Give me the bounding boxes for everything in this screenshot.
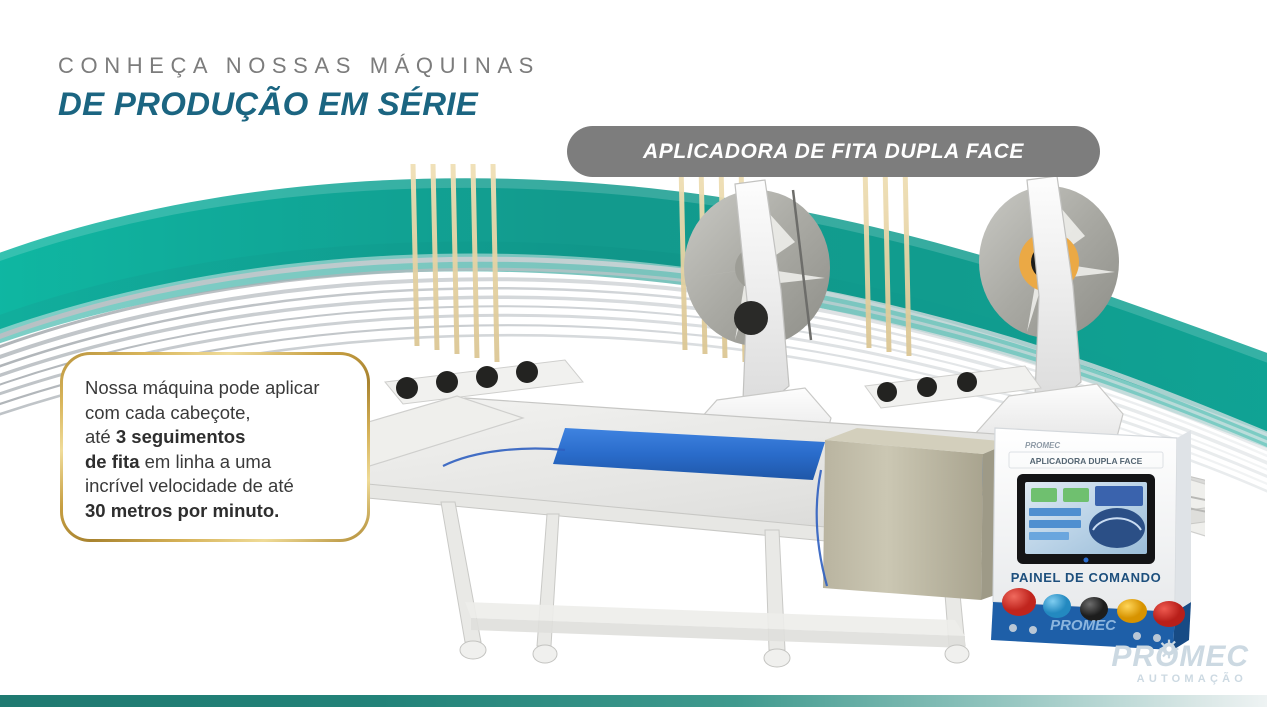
callout-line-3-bold: 3 seguimentos: [116, 426, 246, 447]
pneumatic-tubing: [443, 449, 827, 586]
tape-strands: [413, 164, 909, 362]
kicker-text: CONHEÇA NOSSAS MÁQUINAS: [58, 52, 540, 80]
panel-main-label: PAINEL DE COMANDO: [1011, 570, 1162, 585]
callout-line-1: Nossa máquina pode aplicar: [85, 377, 319, 398]
electrical-cabinet: [823, 428, 1011, 600]
callout-line-5: incrível velocidade de até: [85, 475, 294, 496]
callout-line-4-post: em linha a uma: [139, 451, 271, 472]
tape-head-left: [579, 180, 831, 472]
promec-watermark-logo: PROMEC AUTO: [1111, 642, 1249, 685]
button-parada-emergencia: [1153, 601, 1185, 627]
product-name-label: APLICADORA DE FITA DUPLA FACE: [643, 140, 1024, 164]
caster-wheels: [460, 622, 1165, 667]
roller-bars: [385, 360, 1041, 408]
machine-table: [275, 398, 1205, 540]
gear-icon: [1159, 639, 1179, 659]
button-ciclo: [1080, 597, 1108, 621]
tape-head-right: [975, 176, 1123, 468]
callout-line-2: com cada cabeçote,: [85, 402, 251, 423]
conveyor-belt-right: [843, 446, 1105, 506]
button-reset: [1043, 594, 1071, 618]
machine-legs: [441, 502, 1161, 650]
feature-callout-text: Nossa máquina pode aplicar com cada cabe…: [85, 376, 347, 524]
bottom-accent-bar: [0, 695, 1267, 707]
button-fim-ciclo: [1117, 599, 1147, 623]
logo-wordmark: PROMEC: [1111, 642, 1249, 672]
callout-line-3-pre: até: [85, 426, 116, 447]
product-name-banner: APLICADORA DE FITA DUPLA FACE: [567, 126, 1100, 177]
outfeed-plate: [1121, 472, 1205, 542]
panel-machine-name: APLICADORA DUPLA FACE: [1030, 456, 1143, 466]
machine-photo: PROMEC APLICADORA DUPLA FACE PAINEL DE C…: [265, 150, 1205, 670]
panel-top-brand: PROMEC: [1025, 441, 1060, 450]
logo-subtitle: AUTOMAÇÃO: [1111, 674, 1247, 685]
page-title: DE PRODUÇÃO EM SÉRIE: [58, 84, 554, 126]
callout-line-6-bold: 30 metros por minuto.: [85, 500, 279, 521]
headline-block: CONHEÇA NOSSAS MÁQUINAS DE PRODUÇÃO EM S…: [58, 52, 540, 125]
feature-callout-inner: Nossa máquina pode aplicar com cada cabe…: [63, 355, 367, 539]
conveyor-belt-left: [553, 428, 825, 480]
hmi-screen: [1025, 482, 1147, 554]
feature-callout-box: Nossa máquina pode aplicar com cada cabe…: [60, 352, 370, 542]
control-panel: PROMEC APLICADORA DUPLA FACE PAINEL DE C…: [991, 428, 1191, 650]
button-emergencia: [1002, 588, 1036, 616]
logo-wordmark-text: PROMEC: [1111, 640, 1249, 673]
panel-buttons: [1002, 588, 1185, 627]
slide-canvas: CONHEÇA NOSSAS MÁQUINAS DE PRODUÇÃO EM S…: [0, 0, 1267, 707]
callout-line-4-bold: de fita: [85, 451, 139, 472]
panel-base-brand: PROMEC: [1050, 617, 1117, 634]
hmi-screen-bezel: [1017, 474, 1155, 564]
